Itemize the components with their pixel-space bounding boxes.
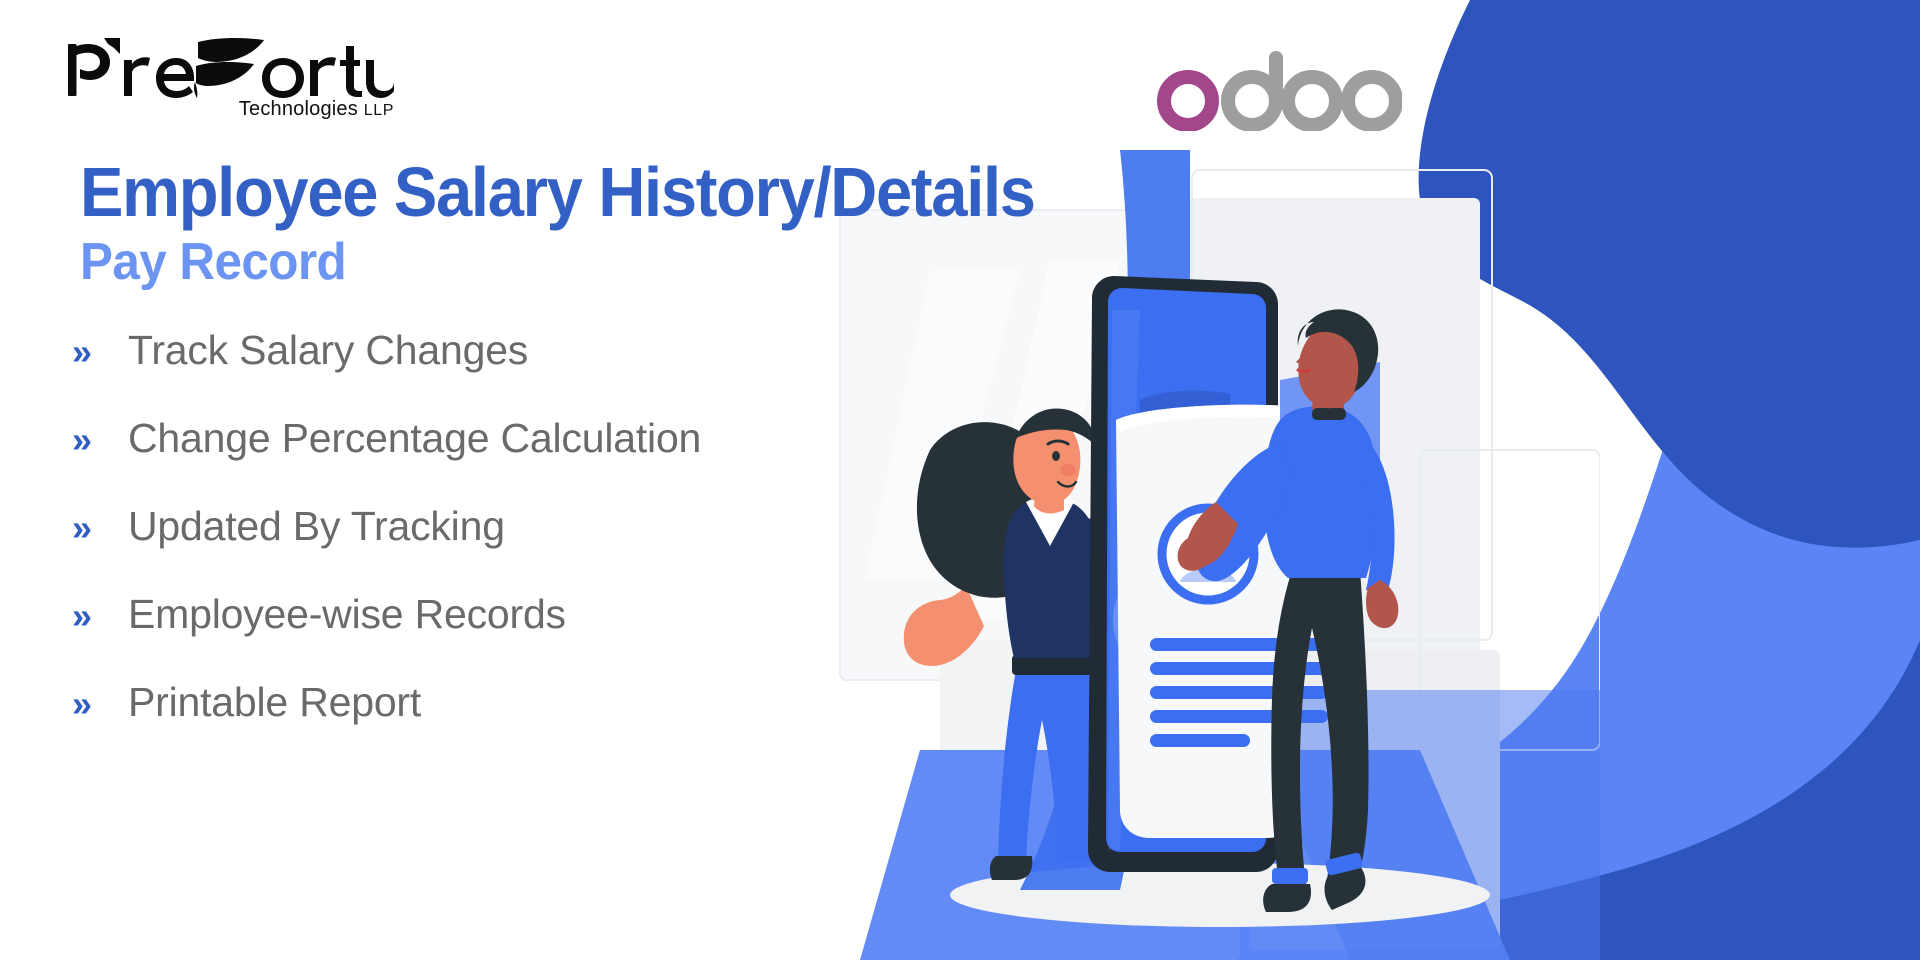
list-item-label: Updated By Tracking bbox=[128, 503, 505, 550]
list-item: » Updated By Tracking bbox=[72, 482, 902, 570]
odoo-logo bbox=[1152, 45, 1402, 131]
double-chevron-icon: » bbox=[72, 418, 128, 458]
list-item-label: Track Salary Changes bbox=[128, 327, 528, 374]
list-item: » Employee-wise Records bbox=[72, 570, 902, 658]
double-chevron-icon: » bbox=[72, 330, 128, 370]
list-item-label: Printable Report bbox=[128, 679, 421, 726]
prefortune-tagline: Technologies LLP bbox=[239, 98, 394, 121]
prefortune-logo: Technologies LLP bbox=[64, 36, 394, 126]
double-chevron-icon: » bbox=[72, 594, 128, 634]
banner-root: $ bbox=[0, 0, 1920, 960]
prefortune-wordmark bbox=[64, 36, 394, 98]
feature-list: » Track Salary Changes » Change Percenta… bbox=[72, 306, 902, 746]
double-chevron-icon: » bbox=[72, 682, 128, 722]
list-item: » Printable Report bbox=[72, 658, 902, 746]
double-chevron-icon: » bbox=[72, 506, 128, 546]
list-item-label: Change Percentage Calculation bbox=[128, 415, 701, 462]
page-title: Employee Salary History/Details bbox=[80, 152, 1035, 232]
list-item: » Change Percentage Calculation bbox=[72, 394, 902, 482]
list-item: » Track Salary Changes bbox=[72, 306, 902, 394]
payroll-record-illustration: $ bbox=[820, 150, 1600, 960]
list-item-label: Employee-wise Records bbox=[128, 591, 566, 638]
page-subtitle: Pay Record bbox=[80, 232, 346, 292]
